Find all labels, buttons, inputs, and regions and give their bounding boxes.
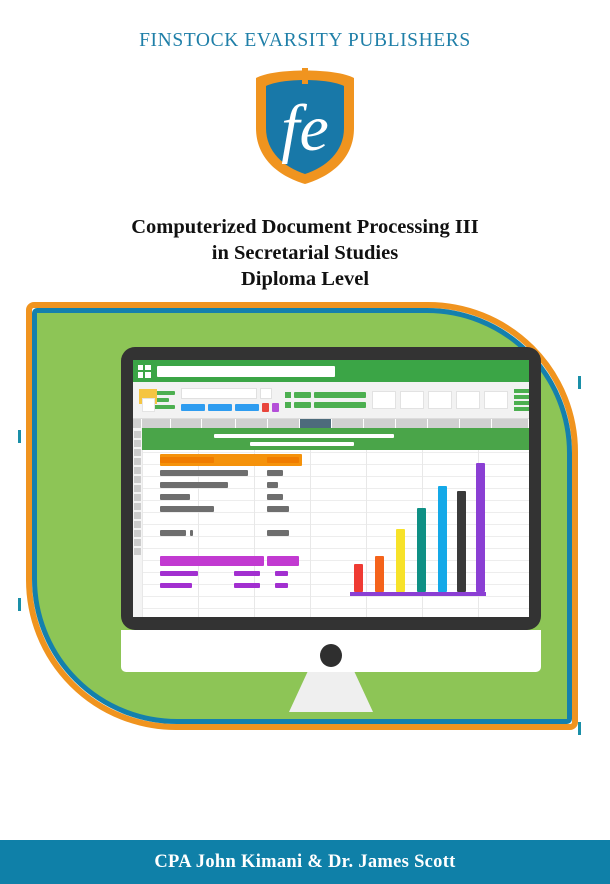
cell-style-item[interactable]: [428, 391, 452, 409]
column-header[interactable]: [364, 419, 396, 428]
cell-style-item[interactable]: [400, 391, 424, 409]
row-header[interactable]: [134, 449, 141, 456]
column-headers: [133, 419, 529, 428]
highlight-row-purple: [234, 571, 260, 576]
style-bar: [314, 402, 366, 408]
chart-bar: [417, 508, 426, 592]
data-text-row: [160, 470, 248, 476]
font-color-button[interactable]: [272, 403, 279, 412]
sheet-header-text: [214, 434, 394, 438]
data-bar-orange-dark: [160, 457, 214, 463]
row-header[interactable]: [134, 476, 141, 483]
style-bar: [314, 392, 366, 398]
style-check-icon: [285, 392, 291, 398]
column-header[interactable]: [492, 419, 529, 428]
data-text-row: [190, 530, 193, 536]
row-header[interactable]: [134, 485, 141, 492]
style-label: [294, 392, 311, 398]
fe-shield-logo: fe: [252, 62, 358, 186]
title-line-3: Diploma Level: [0, 266, 610, 292]
data-text-row: [267, 470, 283, 476]
font-name-input[interactable]: [181, 388, 257, 399]
data-text-row: [160, 482, 228, 488]
font-group: [181, 388, 279, 412]
row-header[interactable]: [134, 503, 141, 510]
row-header[interactable]: [134, 548, 141, 555]
data-text-row: [267, 482, 278, 488]
cell-style-item[interactable]: [456, 391, 480, 409]
title-line-2: in Secretarial Studies: [0, 240, 610, 266]
search-input[interactable]: [157, 366, 335, 377]
highlight-row-magenta: [267, 556, 299, 566]
computer-monitor: [121, 347, 541, 662]
monitor-power-button[interactable]: [320, 644, 342, 667]
row-header[interactable]: [134, 512, 141, 519]
styles-group: [285, 392, 366, 408]
row-header[interactable]: [134, 530, 141, 537]
highlight-row-purple: [160, 583, 192, 588]
row-header[interactable]: [134, 494, 141, 501]
cell-style-gallery: [372, 391, 508, 409]
data-text-row: [267, 530, 289, 536]
app-titlebar: [133, 360, 529, 382]
decorative-tick: [578, 722, 581, 735]
authors-banner: CPA John Kimani & Dr. James Scott: [0, 840, 610, 884]
book-cover: FINSTOCK EVARSITY PUBLISHERS fe Computer…: [0, 0, 610, 884]
bar-chart: [342, 456, 492, 596]
highlight-row-purple: [234, 583, 260, 588]
shield-icon: fe: [252, 62, 358, 186]
chart-baseline: [350, 592, 486, 596]
cover-illustration: [26, 302, 578, 730]
chart-bar: [438, 486, 447, 592]
align-center-button[interactable]: [208, 404, 232, 411]
logo-monogram: fe: [281, 92, 329, 165]
publisher-name: FINSTOCK EVARSITY PUBLISHERS: [0, 30, 610, 52]
highlight-row-purple: [275, 583, 288, 588]
decorative-tick: [18, 430, 21, 443]
cell-style-item[interactable]: [484, 391, 508, 409]
row-header[interactable]: [134, 440, 141, 447]
style-check-icon: [285, 402, 291, 408]
spreadsheet-grid[interactable]: [142, 428, 529, 617]
chart-bar: [375, 556, 384, 592]
row-header[interactable]: [134, 431, 141, 438]
alignment-buttons: [181, 403, 279, 412]
spreadsheet-area: [133, 419, 529, 617]
data-text-row: [160, 530, 186, 536]
column-header[interactable]: [171, 419, 203, 428]
sheet-subheader-text: [250, 442, 354, 446]
column-header[interactable]: [268, 419, 300, 428]
column-header[interactable]: [460, 419, 492, 428]
sheet-header-band: [142, 428, 529, 450]
row-headers: [133, 428, 142, 617]
chart-bar: [476, 463, 485, 592]
highlight-row-purple: [160, 571, 198, 576]
decorative-tick: [578, 376, 581, 389]
column-header[interactable]: [396, 419, 428, 428]
chart-bar: [354, 564, 363, 592]
title-line-1: Computerized Document Processing III: [0, 214, 610, 240]
row-header[interactable]: [134, 467, 141, 474]
column-header[interactable]: [142, 419, 170, 428]
data-text-row: [267, 494, 283, 500]
book-title: Computerized Document Processing III in …: [0, 214, 610, 292]
chart-bar: [457, 491, 466, 592]
four-square-grid-icon: [138, 365, 151, 378]
row-header[interactable]: [134, 539, 141, 546]
data-bar-orange-dark: [267, 457, 299, 463]
column-header[interactable]: [332, 419, 364, 428]
data-text-row: [160, 506, 214, 512]
data-text-row: [267, 506, 289, 512]
row-header[interactable]: [134, 521, 141, 528]
authors-text: CPA John Kimani & Dr. James Scott: [154, 852, 455, 873]
align-left-button[interactable]: [181, 404, 205, 411]
data-text-row: [160, 494, 190, 500]
chart-bar: [396, 529, 405, 592]
column-header[interactable]: [202, 419, 236, 428]
monitor-screen: [133, 360, 529, 617]
style-label: [294, 402, 311, 408]
cell-style-item[interactable]: [372, 391, 396, 409]
row-header[interactable]: [134, 458, 141, 465]
fill-color-button[interactable]: [262, 403, 269, 412]
column-header[interactable]: [236, 419, 268, 428]
highlight-row-magenta: [160, 556, 264, 566]
decorative-tick: [18, 598, 21, 611]
align-right-button[interactable]: [235, 404, 259, 411]
app-ribbon: [133, 382, 529, 419]
highlight-row-purple: [275, 571, 288, 576]
column-header-selected[interactable]: [300, 419, 332, 428]
font-size-input[interactable]: [260, 388, 272, 399]
column-header[interactable]: [133, 419, 142, 428]
more-options-icon[interactable]: [514, 389, 529, 411]
column-header[interactable]: [428, 419, 460, 428]
